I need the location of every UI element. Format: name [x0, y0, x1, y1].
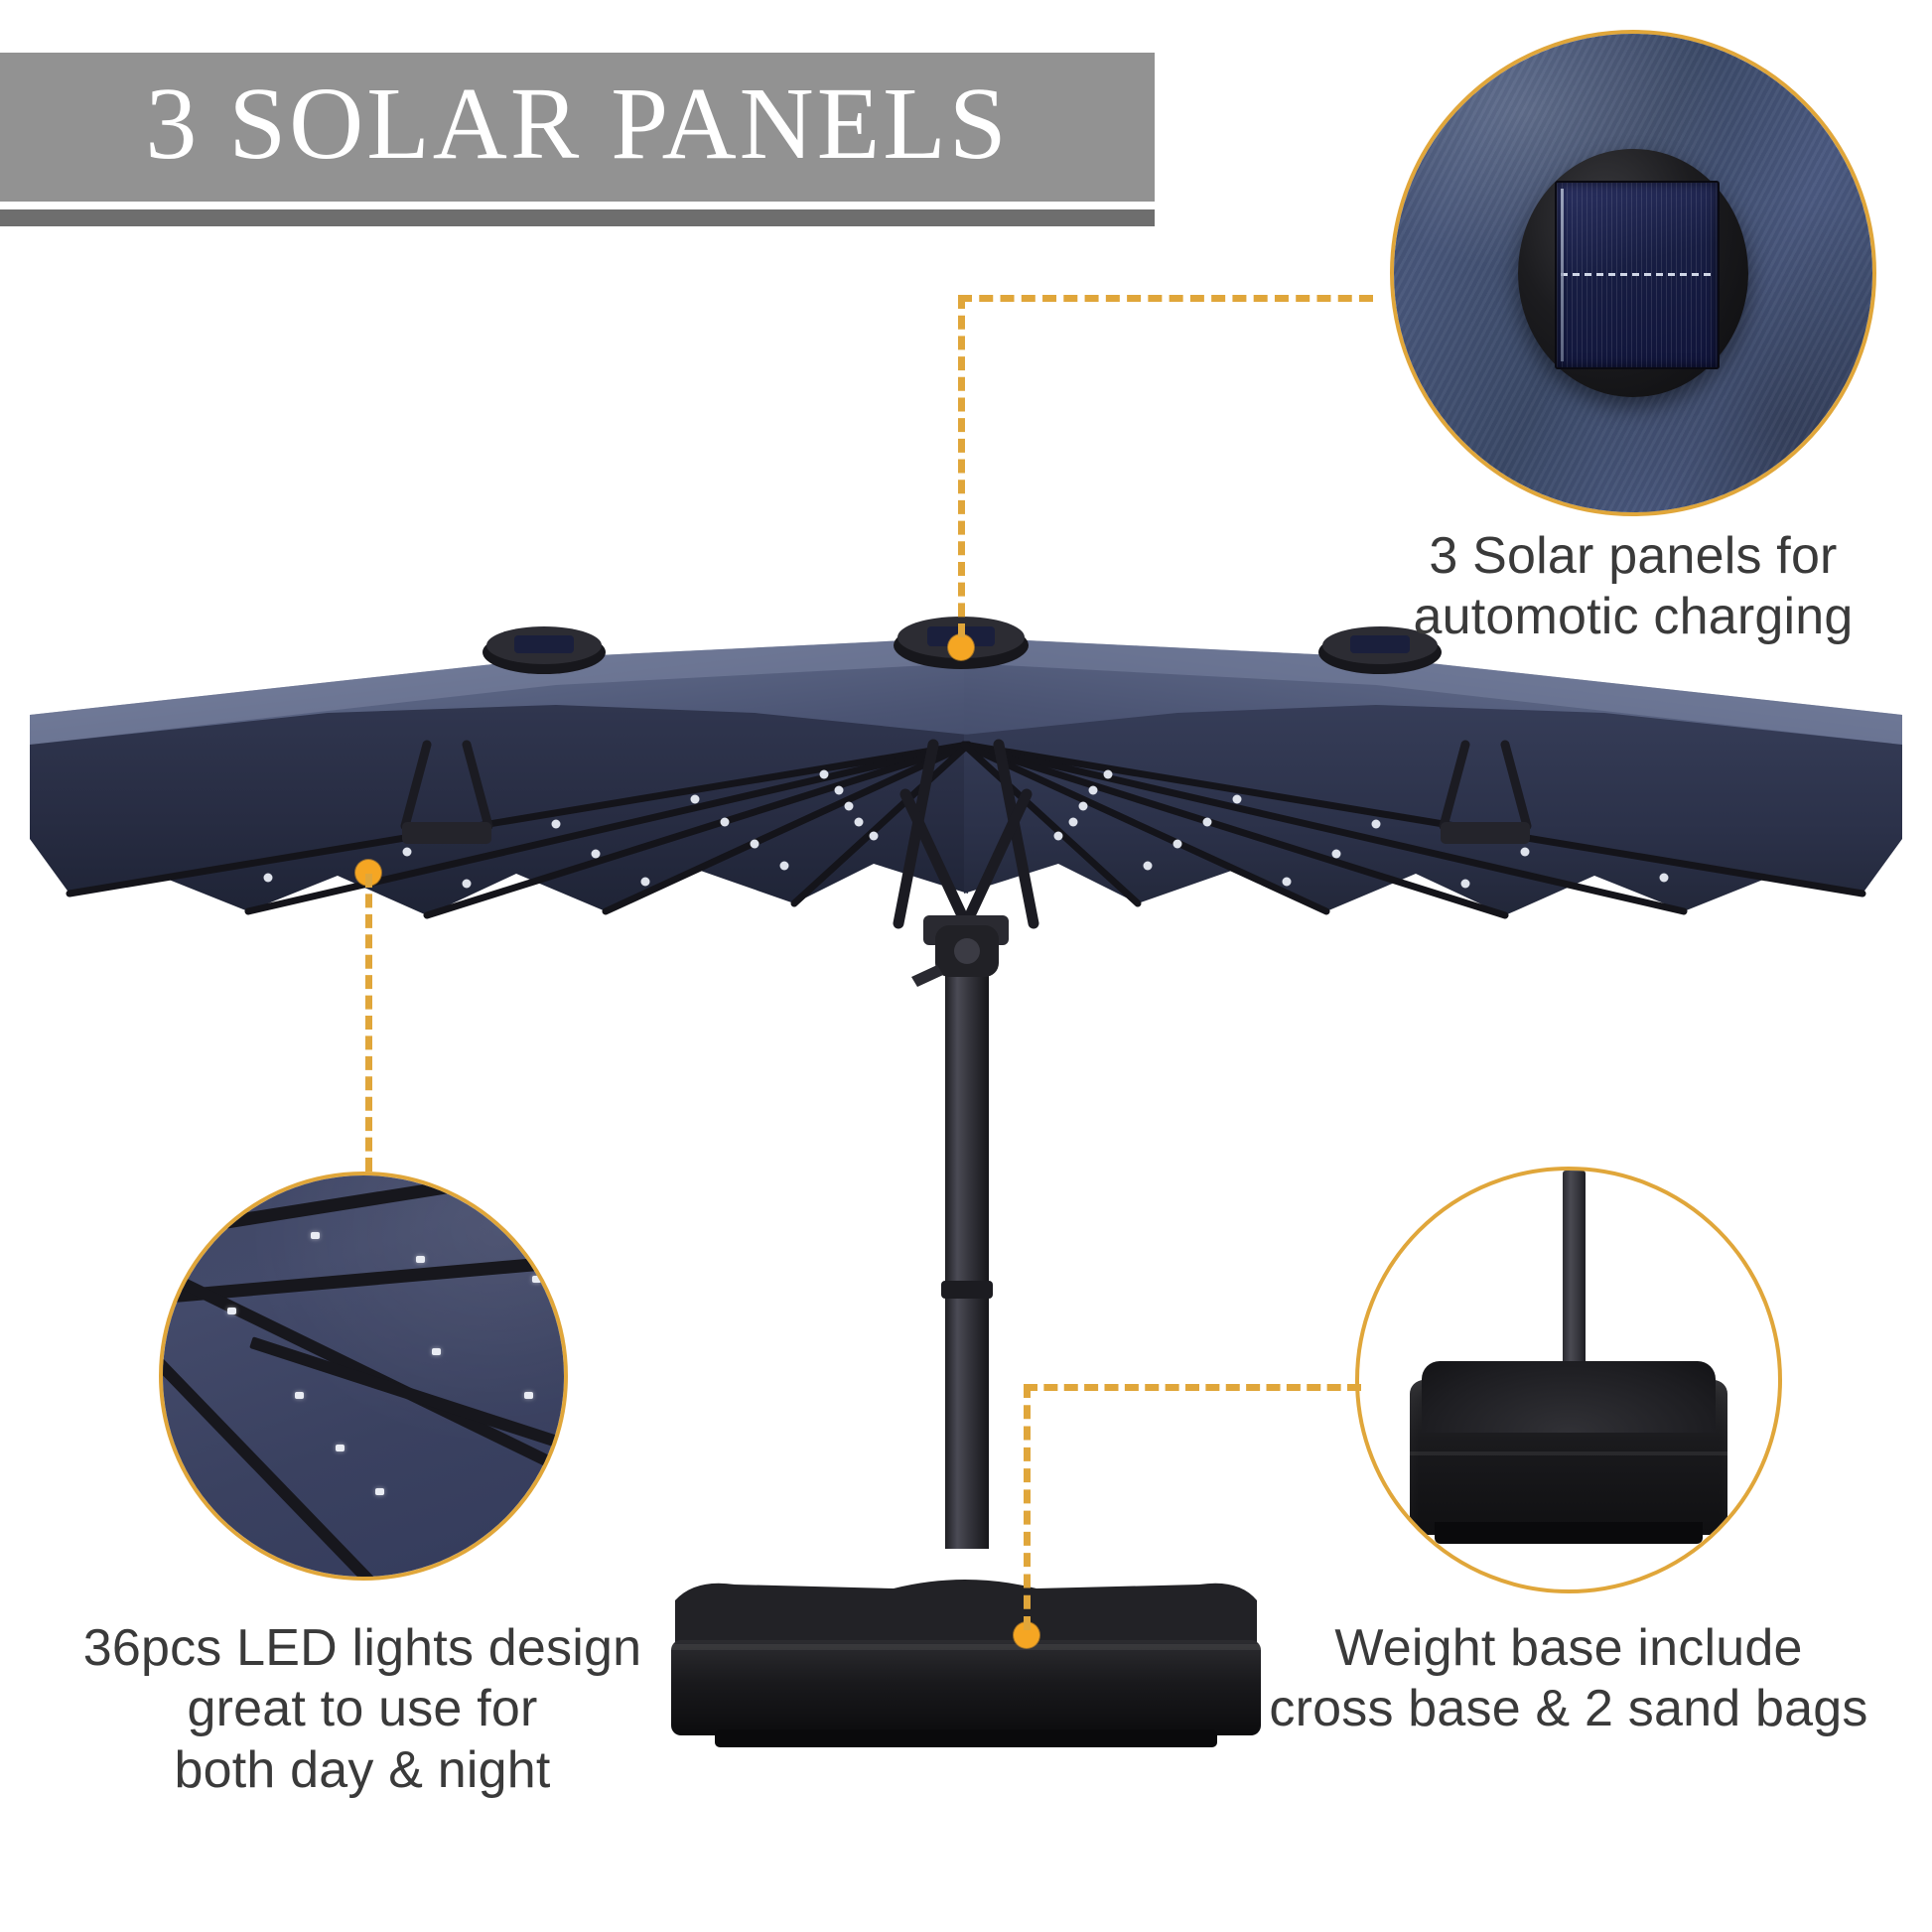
solar-cell-icon [1555, 181, 1720, 368]
caption-base-line-1: Weight base include [1221, 1618, 1916, 1679]
callout-solar-panel-closeup [1390, 30, 1876, 516]
caption-led-line-1: 36pcs LED lights design [20, 1618, 705, 1679]
pole-joint [941, 1281, 993, 1299]
led-dot [311, 1232, 320, 1239]
caption-led-line-2: great to use for [20, 1679, 705, 1739]
solar-module-left [483, 626, 606, 674]
sand-bag-base-icon [1410, 1380, 1728, 1535]
cross-base-foot-icon [1435, 1522, 1703, 1543]
connector-solar-vertical [958, 295, 965, 637]
caption-base-line-2: cross base & 2 sand bags [1221, 1679, 1916, 1739]
title-banner-underline [0, 209, 1155, 226]
callout-weight-base-closeup [1355, 1167, 1782, 1593]
caption-solar-line-2: automotic charging [1286, 587, 1932, 647]
callout-led-lights-closeup [159, 1172, 568, 1581]
caption-led-line-3: both day & night [20, 1740, 705, 1801]
caption-solar-line-1: 3 Solar panels for [1286, 526, 1932, 587]
led-dot [375, 1488, 384, 1495]
connector-base-horizontal [1024, 1384, 1361, 1391]
led-dot [524, 1392, 533, 1399]
caption-led-lights: 36pcs LED lights design great to use for… [20, 1618, 705, 1801]
page-title: 3 SOLAR PANELS [0, 53, 1155, 202]
umbrella-pole [945, 933, 989, 1549]
connector-base-vertical [1024, 1384, 1031, 1630]
umbrella-weight-base [671, 1580, 1261, 1747]
led-dot [227, 1308, 236, 1314]
title-banner: 3 SOLAR PANELS [0, 53, 1155, 202]
caption-solar-panels: 3 Solar panels for automotic charging [1286, 526, 1932, 648]
anchor-dot-solar [948, 634, 974, 660]
infographic-canvas: 3 SOLAR PANELS [0, 0, 1932, 1932]
led-dot [532, 1276, 541, 1283]
led-dot [416, 1256, 425, 1263]
led-dot [336, 1445, 345, 1451]
connector-solar-horizontal [958, 295, 1373, 302]
led-dot [295, 1392, 304, 1399]
solar-light-module [1518, 149, 1747, 398]
caption-weight-base: Weight base include cross base & 2 sand … [1221, 1618, 1916, 1740]
led-dot [432, 1348, 441, 1355]
connector-led-vertical [365, 874, 372, 1172]
